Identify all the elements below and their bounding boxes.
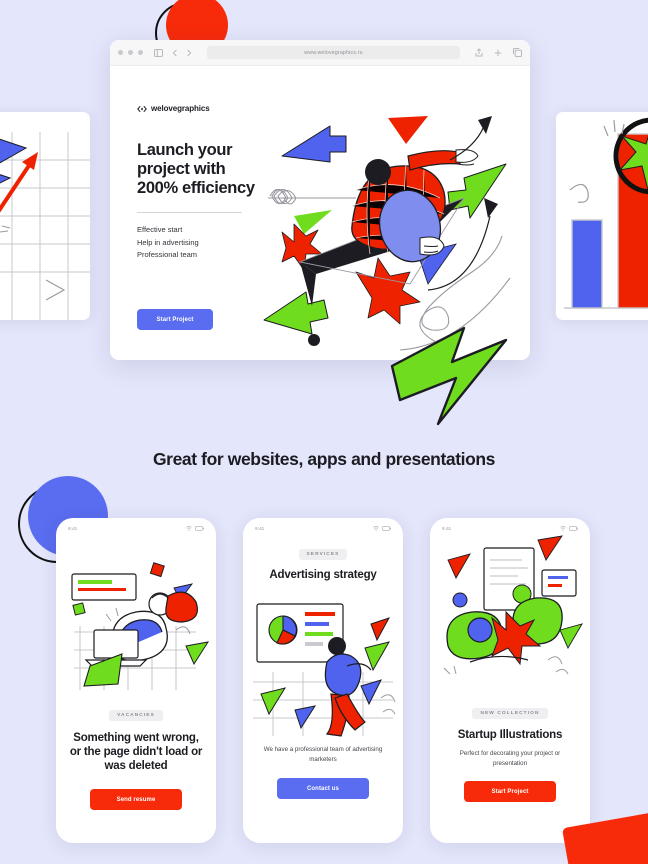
hero-feature-item: Professional team — [137, 249, 259, 261]
tabs-icon[interactable] — [513, 48, 522, 57]
maximize-dot[interactable] — [138, 50, 143, 55]
red-arrow-grid-chart-illustration — [0, 112, 90, 320]
person-with-documents-illustration — [430, 534, 590, 694]
bar-chart-magnifying-glass-illustration — [556, 112, 648, 320]
status-bar: 9:41 — [243, 518, 403, 534]
wifi-icon — [560, 526, 566, 531]
wifi-icon — [373, 526, 379, 531]
battery-icon — [382, 526, 391, 531]
contact-us-button[interactable]: Contact us — [277, 778, 369, 799]
minimize-dot[interactable] — [128, 50, 133, 55]
hero-divider — [137, 212, 242, 213]
hero-start-project-button[interactable]: Start Project — [137, 309, 213, 330]
status-bar: 9:41 — [56, 518, 216, 534]
status-icons — [560, 526, 578, 531]
phone-illustration-area — [56, 534, 216, 699]
phone-footer: VACANCIES Something went wrong, or the p… — [56, 703, 216, 810]
person-presenting-charts-illustration — [243, 586, 403, 738]
send-resume-button[interactable]: Send resume — [90, 789, 182, 810]
hero-copy: Launch your project with 200% efficiency… — [137, 141, 259, 261]
phone-subtitle: We have a professional team of advertisi… — [255, 745, 391, 764]
phone-badge: NEW COLLECTION — [472, 708, 547, 719]
battery-icon — [569, 526, 578, 531]
browser-window: www.welovegraphics.ru welovegraphics Lau… — [110, 40, 530, 360]
phone-subtitle: Perfect for decorating your project or p… — [442, 749, 578, 768]
address-bar[interactable]: www.welovegraphics.ru — [207, 46, 460, 59]
close-dot[interactable] — [118, 50, 123, 55]
chevron-diamond-icon — [137, 105, 147, 113]
phone-mockup-new-collection: 9:41 — [430, 518, 590, 843]
browser-toolbar: www.welovegraphics.ru — [110, 40, 530, 66]
phone-footer: NEW COLLECTION Startup Illustrations Per… — [430, 701, 590, 802]
person-at-desk-laptop-illustration — [56, 534, 216, 694]
site-logo-text: welovegraphics — [151, 104, 210, 113]
status-icons — [186, 526, 204, 531]
green-lightning-bolt — [382, 326, 554, 426]
forward-chevron-icon[interactable] — [186, 49, 192, 57]
section-heading: Great for websites, apps and presentatio… — [0, 449, 648, 470]
phone-badge: SERVICES — [299, 549, 348, 560]
phone-badge: VACANCIES — [109, 710, 163, 721]
start-project-button[interactable]: Start Project — [464, 781, 556, 802]
phone-title: Something went wrong, or the page didn't… — [68, 731, 204, 773]
man-riding-paper-plane-illustration — [260, 114, 522, 354]
phone-footer: We have a professional team of advertisi… — [243, 745, 403, 799]
status-time: 9:41 — [68, 526, 77, 531]
grid-growth-chart-card — [0, 112, 90, 320]
address-bar-url: www.welovegraphics.ru — [304, 50, 362, 56]
phone-mockup-services: 9:41 SERVICES Advertising strategy — [243, 518, 403, 843]
phone-illustration-area — [430, 534, 590, 699]
phone-illustration-area — [243, 586, 403, 743]
bar-chart-magnifier-card — [556, 112, 648, 320]
back-chevron-icon[interactable] — [172, 49, 178, 57]
site-logo[interactable]: welovegraphics — [137, 104, 210, 113]
poster-canvas: www.welovegraphics.ru welovegraphics Lau… — [0, 0, 648, 864]
phone-mockup-vacancies: 9:41 — [56, 518, 216, 843]
phone-title: Startup Illustrations — [442, 728, 578, 742]
page-viewport: welovegraphics Launch your project with … — [110, 66, 530, 360]
battery-icon — [195, 526, 204, 531]
hero-headline: Launch your project with 200% efficiency — [137, 141, 259, 198]
phone-header: SERVICES Advertising strategy — [243, 542, 403, 582]
phone-title: Advertising strategy — [255, 568, 391, 582]
wifi-icon — [186, 526, 192, 531]
sidebar-icon[interactable] — [154, 49, 163, 57]
share-icon[interactable] — [475, 48, 483, 57]
status-bar: 9:41 — [430, 518, 590, 534]
plus-icon[interactable] — [494, 49, 502, 57]
status-icons — [373, 526, 391, 531]
hero-feature-item: Help in advertising — [137, 237, 259, 249]
hero-feature-item: Effective start — [137, 224, 259, 236]
status-time: 9:41 — [255, 526, 264, 531]
status-time: 9:41 — [442, 526, 451, 531]
